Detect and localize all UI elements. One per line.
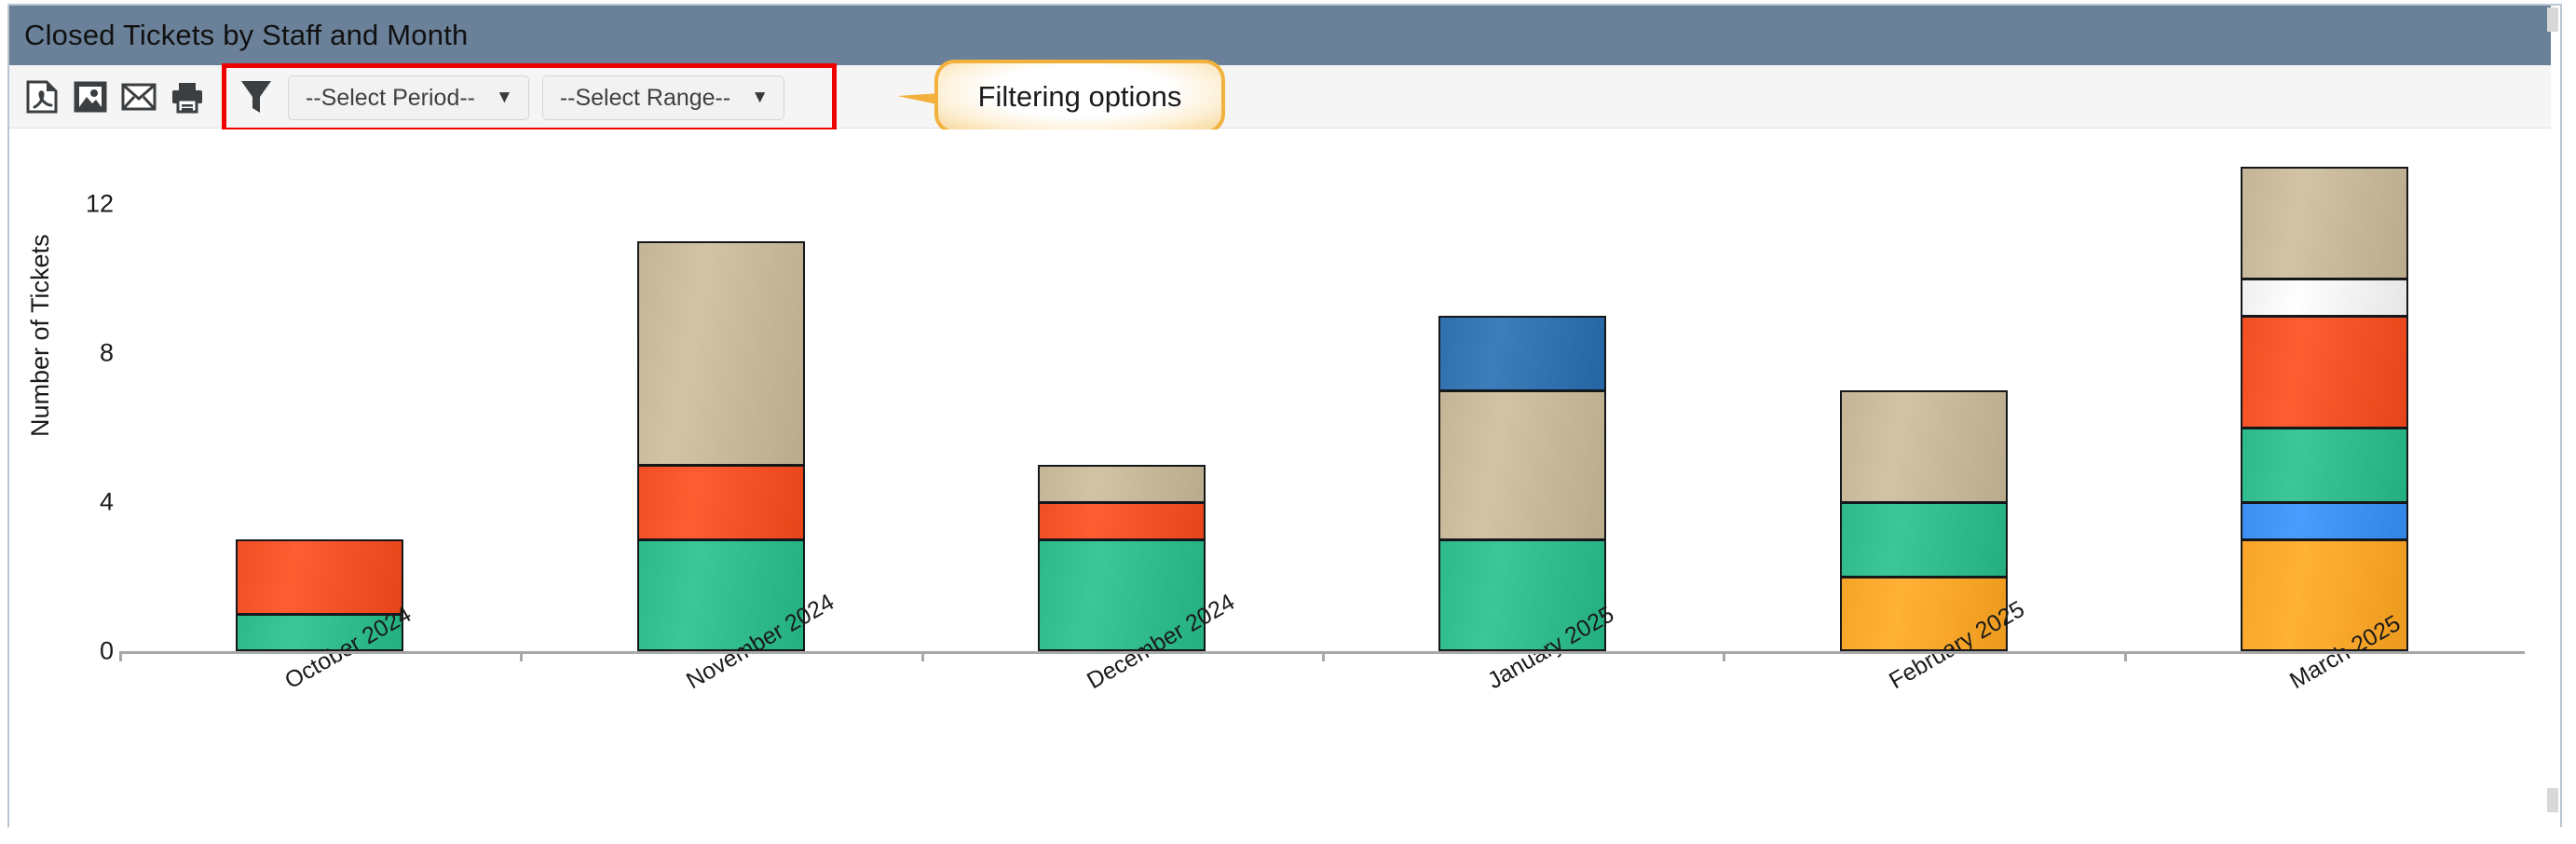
x-axis-tick	[1322, 651, 1325, 661]
bar-segment[interactable]	[1438, 390, 1606, 539]
report-panel: Closed Tickets by Staff and Month	[7, 4, 2562, 827]
x-axis-tick	[2124, 651, 2127, 661]
chevron-down-icon: ▼	[496, 88, 513, 108]
bar-segment[interactable]	[1438, 316, 1606, 390]
bar-segment[interactable]	[1840, 502, 2008, 577]
bar-segment[interactable]	[2241, 428, 2408, 502]
x-axis-tick	[520, 651, 523, 661]
select-range-dropdown[interactable]: --Select Range-- ▼	[542, 75, 784, 120]
stacked-bar-chart: Number of Tickets 04812 October 2024Nove…	[9, 129, 2560, 827]
export-pdf-icon[interactable]	[24, 79, 60, 115]
bar-segment[interactable]	[2241, 279, 2408, 316]
y-axis-tick: 4	[58, 488, 114, 517]
bar-segment[interactable]	[637, 465, 805, 539]
page-title: Closed Tickets by Staff and Month	[24, 19, 468, 52]
x-axis-tick	[1723, 651, 1725, 661]
bar-segment[interactable]	[1038, 465, 1206, 502]
export-toolbar	[9, 79, 205, 115]
callout-filtering-options: Filtering options	[897, 60, 1225, 134]
y-axis-tick: 8	[58, 339, 114, 368]
bar-segment[interactable]	[2241, 167, 2408, 279]
bar-segment[interactable]	[2241, 316, 2408, 428]
select-period-dropdown[interactable]: --Select Period-- ▼	[288, 75, 529, 120]
scroll-down-hint[interactable]	[2547, 788, 2558, 812]
x-axis-tick	[119, 651, 122, 661]
bar-segment[interactable]	[2241, 502, 2408, 539]
bar-segment[interactable]	[236, 539, 403, 614]
bar-segment[interactable]	[1038, 502, 1206, 539]
y-axis-ticks: 04812	[56, 129, 114, 827]
chevron-down-icon: ▼	[751, 88, 769, 108]
bar-stack[interactable]	[1438, 316, 1606, 651]
print-icon[interactable]	[170, 79, 205, 115]
bar-segment[interactable]	[637, 241, 805, 465]
select-period-value: --Select Period--	[306, 85, 475, 112]
y-axis-tick: 0	[58, 637, 114, 666]
bar-stack[interactable]	[637, 241, 805, 651]
callout-text: Filtering options	[934, 60, 1225, 134]
email-icon[interactable]	[121, 79, 157, 115]
right-edge	[2551, 6, 2560, 825]
select-range-value: --Select Range--	[560, 85, 730, 112]
bar-stack[interactable]	[1840, 390, 2008, 651]
filter-funnel-icon[interactable]	[238, 78, 275, 117]
bar-stack[interactable]	[2241, 167, 2408, 651]
y-axis-label: Number of Tickets	[26, 234, 55, 437]
chart-canvas: Number of Tickets 04812 October 2024Nove…	[9, 129, 2560, 827]
title-bar: Closed Tickets by Staff and Month	[9, 6, 2560, 65]
screenshot-root: Closed Tickets by Staff and Month	[0, 0, 2576, 844]
y-axis-tick: 12	[58, 190, 114, 219]
filtering-options-group: --Select Period-- ▼ --Select Range-- ▼	[222, 63, 837, 132]
export-image-icon[interactable]	[73, 79, 108, 115]
bar-segment[interactable]	[1840, 390, 2008, 502]
x-axis-tick	[921, 651, 924, 661]
scroll-up-hint[interactable]	[2547, 7, 2558, 32]
